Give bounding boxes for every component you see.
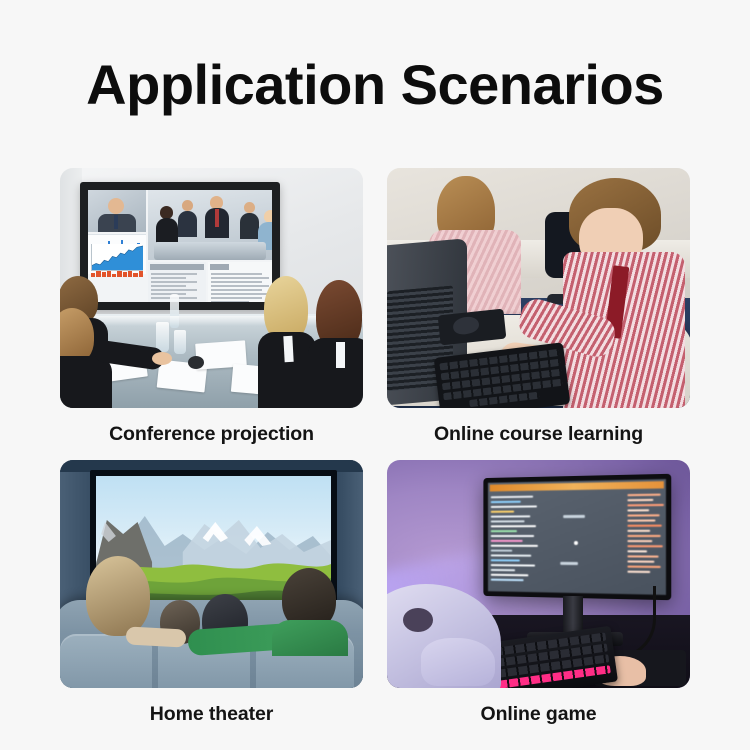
viewer-father-shoulder [272, 620, 348, 656]
scenario-cell-conference: Conference projection [60, 168, 363, 460]
scenario-caption-conference-projection: Conference projection [60, 423, 363, 446]
video-tile-meeting-room [148, 190, 272, 260]
viewer-mother-head [86, 556, 150, 636]
scenario-grid: Conference projection [60, 168, 690, 740]
scenario-caption-online-game: Online game [387, 703, 690, 726]
scenario-cell-home-theater: Home theater [60, 460, 363, 740]
scenario-row-top: Conference projection [60, 168, 690, 460]
video-tile-charts [88, 234, 146, 274]
video-tile-remote-speaker [88, 190, 146, 232]
scenario-caption-online-course-learning: Online course learning [387, 423, 690, 446]
game-hud-center-dot [574, 541, 578, 545]
conference-display-frame [80, 182, 280, 310]
application-scenarios-page: Application Scenarios [0, 0, 750, 750]
scenario-image-home-theater[interactable] [60, 460, 363, 688]
attendee-right-2 [308, 280, 363, 408]
home-theater-illustration [60, 460, 363, 688]
scenario-caption-home-theater: Home theater [60, 703, 363, 726]
game-hud-left-feed [490, 493, 539, 589]
gaming-setup-illustration [387, 460, 690, 688]
conference-room-illustration [60, 168, 363, 408]
gaming-monitor-screen [488, 479, 666, 595]
gamer-sleeve [421, 638, 495, 686]
game-hud-right-list [626, 490, 663, 590]
scenario-image-online-course-learning[interactable] [387, 168, 690, 408]
game-hud-center-label [563, 515, 585, 518]
scenario-cell-online-game: Online game [387, 460, 690, 740]
viewer-mother-arm [126, 626, 187, 647]
classroom-illustration [387, 168, 690, 408]
area-chart-trend [91, 244, 143, 271]
attendee-left-arm [94, 344, 164, 370]
scenario-row-bottom: Home theater [60, 460, 690, 740]
scenario-cell-online-course: Online course learning [387, 168, 690, 460]
scenario-image-conference-projection[interactable] [60, 168, 363, 408]
page-title: Application Scenarios [0, 52, 750, 117]
hoodie-sleeve-patch [403, 608, 433, 632]
gaming-monitor-frame [483, 474, 671, 600]
game-hud-center-label-2 [560, 561, 578, 564]
conference-display-content [88, 190, 272, 302]
scenario-image-online-game[interactable] [387, 460, 690, 688]
